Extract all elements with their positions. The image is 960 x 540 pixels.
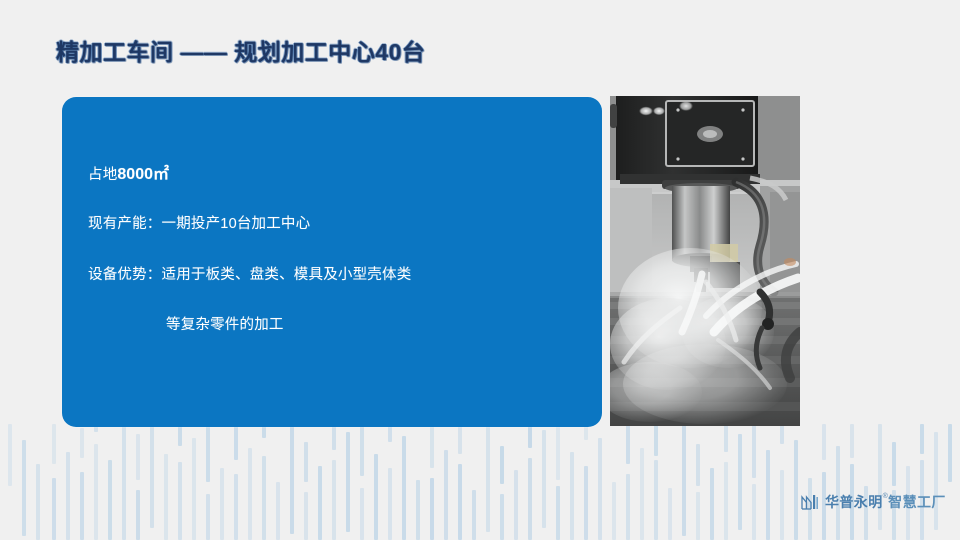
decor-bar: [528, 424, 532, 448]
decor-bar: [80, 472, 84, 540]
decor-bar: [52, 478, 56, 540]
decor-bar: [934, 432, 938, 530]
decor-bar: [584, 466, 588, 540]
decor-bar: [948, 424, 952, 482]
panel-line-advantage-cont: 等复杂零件的加工: [88, 318, 588, 333]
decor-bar: [430, 424, 434, 468]
decor-bar: [794, 440, 798, 540]
decor-bar: [80, 428, 84, 458]
decor-bar: [752, 424, 756, 478]
decor-bar: [640, 448, 644, 540]
decor-bar: [388, 468, 392, 540]
content-panel: 占地8000㎡ 现有产能：一期投产10台加工中心 设备优势：适用于板类、盘类、模…: [62, 97, 602, 427]
footer-logo-text: 华普永明®智慧工厂: [825, 492, 946, 512]
decor-bar: [570, 452, 574, 540]
decor-bar: [52, 424, 56, 464]
decor-bar: [542, 430, 546, 528]
decor-bar: [500, 494, 504, 540]
decor-bar: [360, 488, 364, 540]
decor-bar: [556, 486, 560, 540]
panel-text-block: 占地8000㎡ 现有产能：一期投产10台加工中心 设备优势：适用于板类、盘类、模…: [88, 167, 588, 333]
decor-bar: [878, 424, 882, 530]
decor-bar: [626, 474, 630, 540]
decor-bar: [892, 442, 896, 486]
decor-bar: [752, 484, 756, 540]
decor-bar: [430, 478, 434, 540]
decor-bar: [626, 424, 630, 464]
decor-bar: [682, 424, 686, 536]
decor-bar: [360, 424, 364, 476]
decor-bar: [500, 446, 504, 484]
decor-bar: [22, 440, 26, 536]
decor-bar: [738, 434, 742, 530]
decor-bar: [486, 424, 490, 532]
decor-bar: [822, 424, 826, 460]
decor-bar: [514, 470, 518, 540]
footer-brand: 华普永明: [825, 492, 883, 512]
decor-bar: [206, 494, 210, 540]
decor-bar: [36, 464, 40, 540]
decor-bar: [766, 450, 770, 540]
footer-product: 智慧工厂: [888, 492, 946, 512]
decor-bar: [178, 462, 182, 540]
decor-bar: [346, 432, 350, 532]
decor-bar: [416, 480, 420, 540]
decor-bar: [612, 482, 616, 540]
decor-bar: [248, 448, 252, 540]
decor-bar: [276, 482, 280, 540]
decor-bar: [458, 464, 462, 540]
decor-bar: [150, 424, 154, 528]
decor-bar: [696, 492, 700, 540]
decor-bar: [220, 468, 224, 540]
panel-line-area: 占地8000㎡: [88, 167, 588, 183]
decor-bar: [8, 424, 12, 486]
decor-bar: [192, 438, 196, 540]
hpym-logo-icon: [800, 493, 820, 511]
decorative-bar-band: [0, 424, 960, 540]
registered-mark: ®: [883, 493, 889, 500]
decor-bar: [850, 424, 854, 458]
decor-bar: [472, 490, 476, 540]
decor-bar: [710, 468, 714, 540]
cnc-machining-center-photo: [610, 96, 800, 426]
decor-bar: [556, 424, 560, 480]
decor-bar: [920, 424, 924, 454]
decor-bar: [402, 436, 406, 540]
decor-bar: [66, 452, 70, 540]
decor-bar: [304, 492, 308, 540]
decor-bar: [290, 424, 294, 534]
decor-bar: [668, 488, 672, 540]
decor-bar: [94, 444, 98, 540]
decor-bar: [332, 424, 336, 450]
decor-bar: [654, 424, 658, 456]
decor-bar: [304, 442, 308, 482]
decor-bar: [458, 424, 462, 454]
decor-bar: [234, 424, 238, 460]
panel-line-area-label: 占地: [88, 167, 117, 183]
decor-bar: [178, 424, 182, 446]
slide-canvas: 精加工车间 —— 规划加工中心40台 占地8000㎡ 现有产能：一期投产10台加…: [0, 0, 960, 540]
decor-bar: [444, 450, 448, 540]
decor-bar: [164, 454, 168, 540]
panel-line-area-value: 8000㎡: [117, 166, 169, 183]
decor-bar: [262, 456, 266, 540]
decor-bar: [206, 424, 210, 482]
footer-logo: 华普永明®智慧工厂: [800, 490, 946, 514]
decor-bar: [318, 466, 322, 540]
decor-bar: [528, 458, 532, 540]
panel-line-advantage: 设备优势：适用于板类、盘类、模具及小型壳体类: [88, 268, 588, 283]
decor-bar: [654, 460, 658, 540]
panel-line-capacity: 现有产能：一期投产10台加工中心: [88, 217, 588, 232]
decor-bar: [780, 424, 784, 444]
decor-bar: [780, 470, 784, 540]
decor-bar: [234, 474, 238, 540]
decor-bar: [724, 462, 728, 540]
decor-bar: [696, 444, 700, 486]
decor-bar: [136, 434, 140, 480]
decor-bar: [598, 438, 602, 540]
decor-bar: [374, 454, 378, 540]
decor-bar: [122, 424, 126, 540]
decor-bar: [136, 490, 140, 540]
decor-bar: [108, 460, 112, 540]
decor-bar: [724, 424, 728, 452]
page-title: 精加工车间 —— 规划加工中心40台: [56, 33, 425, 67]
decor-bar: [332, 460, 336, 540]
